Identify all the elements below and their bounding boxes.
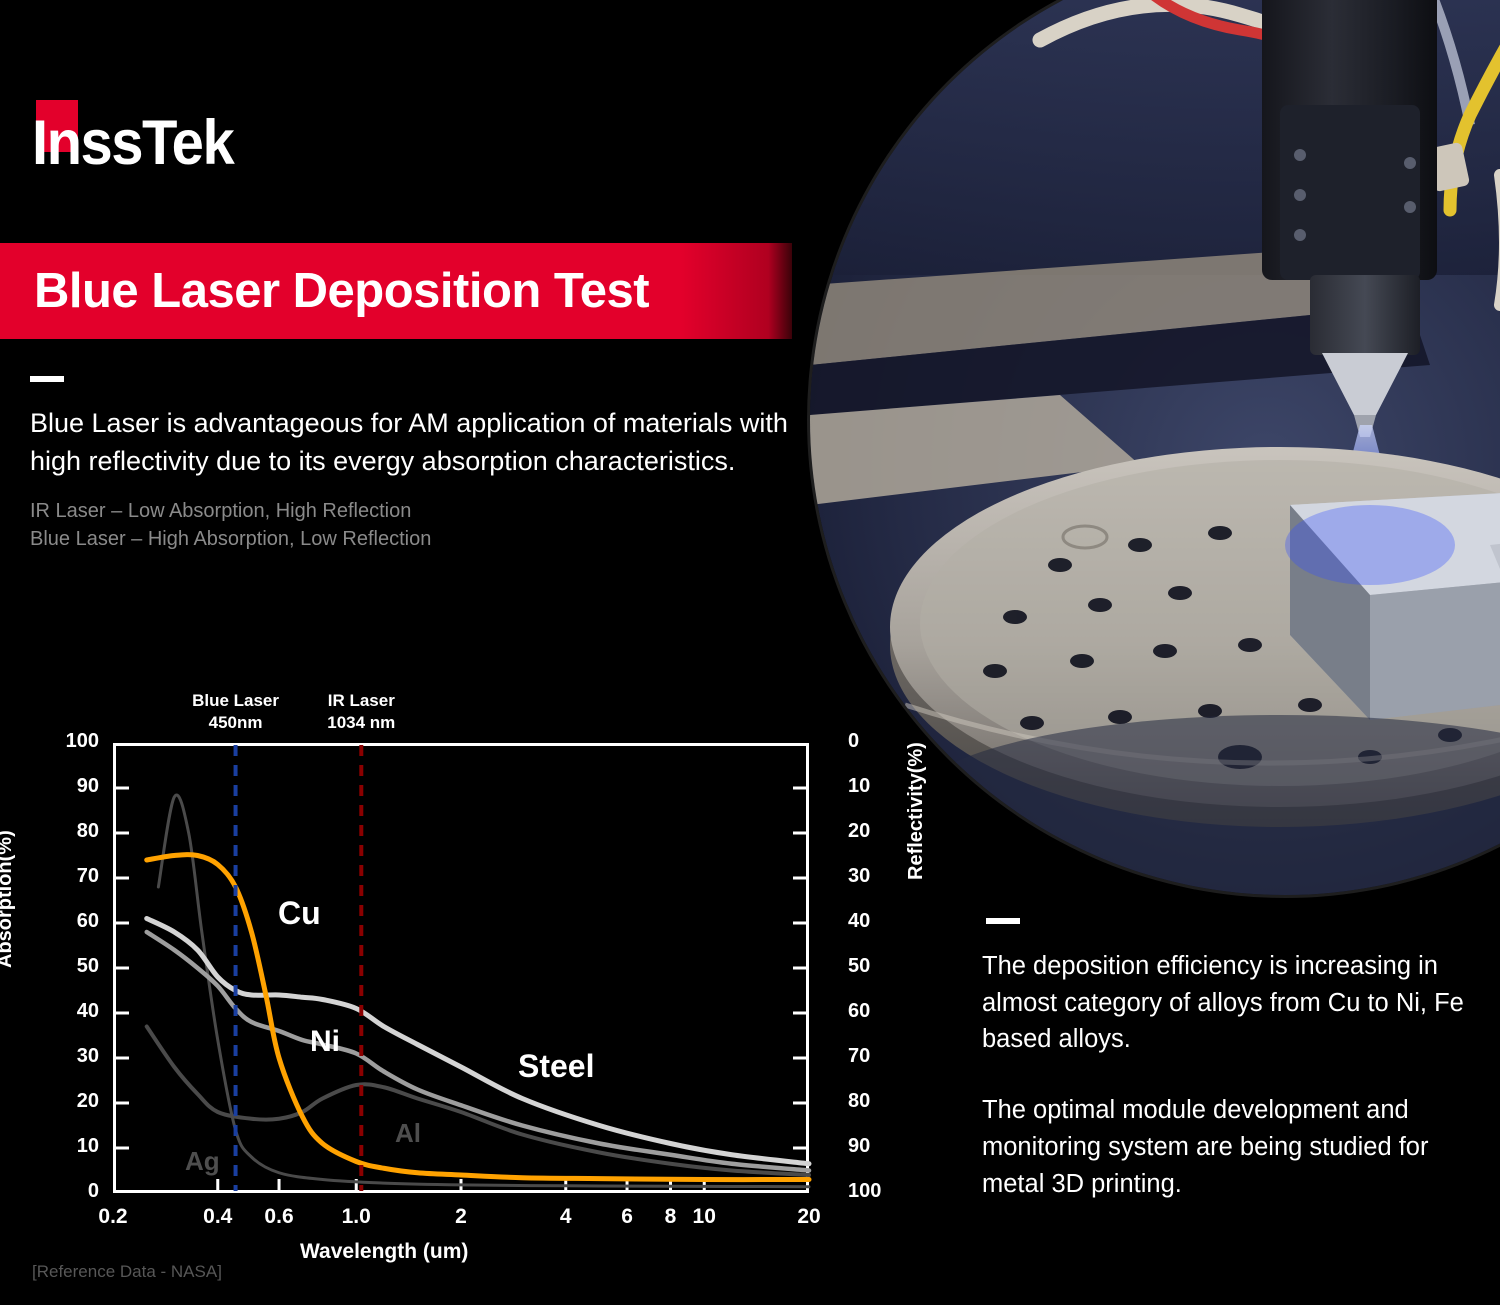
- x-tick-1.0: 1.0: [342, 1205, 371, 1229]
- y-tick-right-30: 30: [848, 865, 870, 888]
- x-tick-0.2: 0.2: [98, 1205, 127, 1229]
- marker-name: Blue Laser: [192, 690, 279, 712]
- y-axis-label-left: Absorption(%): [0, 830, 17, 968]
- title-banner: Blue Laser Deposition Test: [0, 243, 792, 339]
- x-tick-10: 10: [693, 1205, 716, 1229]
- left-section-rule: [30, 376, 64, 382]
- logo-wordmark: InssTek: [32, 112, 233, 175]
- reference-note: [Reference Data - NASA]: [32, 1262, 222, 1282]
- y-tick-left-10: 10: [77, 1135, 99, 1158]
- y-tick-right-0: 0: [848, 730, 859, 753]
- y-tick-right-90: 90: [848, 1135, 870, 1158]
- y-tick-left-20: 20: [77, 1090, 99, 1113]
- curve-label-al: Al: [395, 1118, 421, 1149]
- y-tick-left-90: 90: [77, 775, 99, 798]
- y-tick-left-0: 0: [88, 1180, 99, 1203]
- y-tick-left-60: 60: [77, 910, 99, 933]
- curve-label-ni: Ni: [310, 1025, 340, 1059]
- marker-wavelength: 1034 nm: [327, 712, 395, 734]
- x-tick-2: 2: [455, 1205, 467, 1229]
- y-tick-right-100: 100: [848, 1180, 881, 1203]
- y-tick-right-10: 10: [848, 775, 870, 798]
- y-tick-right-60: 60: [848, 1000, 870, 1023]
- x-tick-6: 6: [621, 1205, 633, 1229]
- marker-label-blue-laser: Blue Laser450nm: [192, 690, 279, 735]
- curve-label-ag: Ag: [185, 1146, 220, 1177]
- y-tick-right-70: 70: [848, 1045, 870, 1068]
- x-tick-0.4: 0.4: [203, 1205, 232, 1229]
- marker-wavelength: 450nm: [192, 712, 279, 734]
- curve-label-steel: Steel: [518, 1048, 594, 1085]
- x-tick-8: 8: [665, 1205, 677, 1229]
- x-tick-0.6: 0.6: [264, 1205, 293, 1229]
- y-tick-left-70: 70: [77, 865, 99, 888]
- y-tick-left-80: 80: [77, 820, 99, 843]
- intro-notes: IR Laser – Low Absorption, High Reflecti…: [30, 498, 730, 553]
- intro-note-blue: Blue Laser – High Absorption, Low Reflec…: [30, 526, 730, 554]
- y-tick-right-80: 80: [848, 1090, 870, 1113]
- x-tick-4: 4: [560, 1205, 572, 1229]
- y-tick-right-50: 50: [848, 955, 870, 978]
- right-paragraph-1: The deposition efficiency is increasing …: [982, 948, 1482, 1058]
- absorption-reflectivity-chart: Absorption(%) Reflectivity(%) Wavelength…: [0, 680, 940, 1300]
- y-tick-left-40: 40: [77, 1000, 99, 1023]
- marker-name: IR Laser: [327, 690, 395, 712]
- y-tick-left-30: 30: [77, 1045, 99, 1068]
- infographic-page: InssTek Blue Laser Deposition Test Blue …: [0, 0, 1500, 1305]
- right-panel-text: The deposition efficiency is increasing …: [982, 948, 1482, 1202]
- curve-label-cu: Cu: [278, 895, 321, 932]
- intro-lead-text: Blue Laser is advantageous for AM applic…: [30, 404, 800, 481]
- y-tick-left-100: 100: [66, 730, 99, 753]
- y-tick-left-50: 50: [77, 955, 99, 978]
- x-tick-20: 20: [797, 1205, 820, 1229]
- y-axis-label-right: Reflectivity(%): [905, 742, 928, 880]
- page-title: Blue Laser Deposition Test: [34, 263, 649, 319]
- intro-note-ir: IR Laser – Low Absorption, High Reflecti…: [30, 498, 730, 526]
- y-tick-right-20: 20: [848, 820, 870, 843]
- marker-label-ir-laser: IR Laser1034 nm: [327, 690, 395, 735]
- right-section-rule: [986, 918, 1020, 924]
- x-axis-label: Wavelength (um): [300, 1240, 468, 1264]
- y-tick-right-40: 40: [848, 910, 870, 933]
- plot-area: [113, 743, 809, 1193]
- right-paragraph-2: The optimal module development and monit…: [982, 1092, 1482, 1202]
